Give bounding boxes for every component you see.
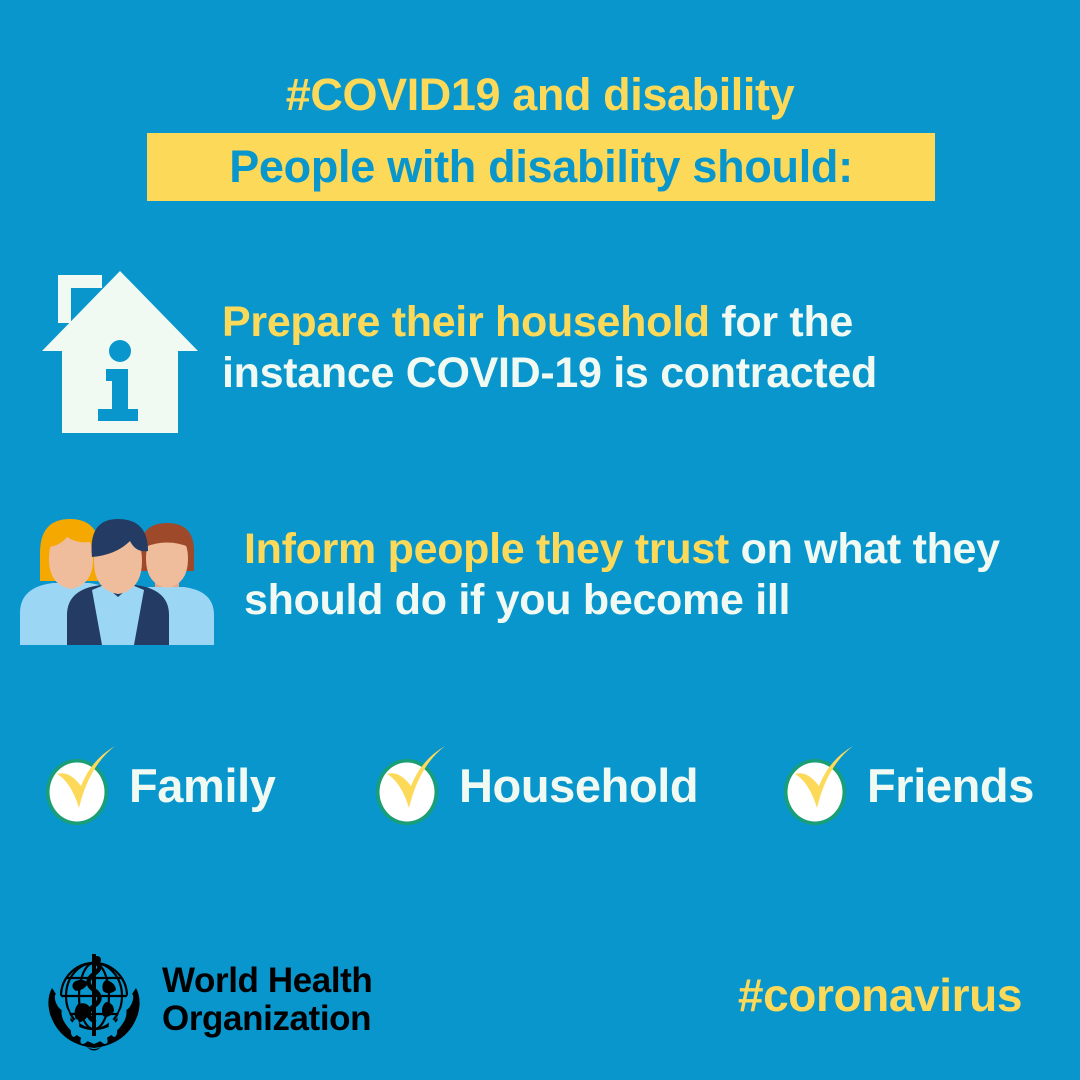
three-people-icon [12,505,222,645]
page-headline: #COVID19 and disability [0,72,1080,117]
message-highlight-inform: Inform people they trust [244,525,729,573]
message-text-household: Prepare their household for the instance… [222,297,932,398]
check-label-family: Family [129,758,276,813]
message-highlight-household: Prepare their household [222,298,710,346]
message-text-inform: Inform people they trust on what they sh… [244,524,1004,625]
check-item-household: Household [375,735,698,835]
message-row-inform: Inform people they trust on what they sh… [12,505,1032,645]
check-circle-icon [375,742,451,828]
coronavirus-hashtag: #coronavirus [738,968,1022,1022]
check-item-friends: Friends [783,735,1034,835]
check-circle-icon [783,742,859,828]
check-item-family: Family [45,735,276,835]
who-logo-line1: World Health [162,962,372,1000]
who-logo: World Health Organization [38,944,372,1056]
check-label-friends: Friends [867,758,1034,813]
who-emblem-icon [38,944,150,1056]
message-row-household: Prepare their household for the instance… [40,255,1040,440]
subtitle-banner-text: People with disability should: [147,133,935,201]
check-label-household: Household [459,758,698,813]
subtitle-banner: People with disability should: [147,133,935,201]
house-info-icon [40,255,200,440]
infographic-poster: #COVID19 and disability People with disa… [0,0,1080,1080]
who-logo-line2: Organization [162,1000,372,1038]
who-logo-text: World Health Organization [162,962,372,1038]
trusted-people-check-list: Family Household Friends [0,735,1080,835]
check-circle-icon [45,742,121,828]
